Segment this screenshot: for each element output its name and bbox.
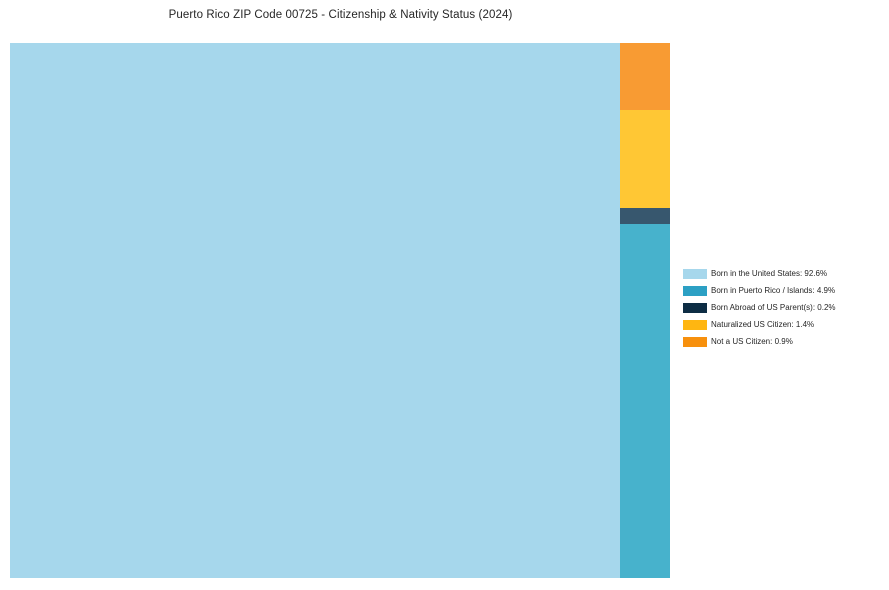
legend-label: Not a US Citizen: 0.9% xyxy=(711,334,793,350)
legend-item[interactable]: Born Abroad of US Parent(s): 0.2% xyxy=(683,300,883,317)
legend-label: Born in the United States: 92.6% xyxy=(711,266,827,282)
legend-item[interactable]: Naturalized US Citizen: 1.4% xyxy=(683,317,883,334)
treemap-plot-area xyxy=(10,43,670,578)
treemap-tile[interactable] xyxy=(620,224,670,578)
legend-swatch xyxy=(683,286,707,296)
chart-title: Puerto Rico ZIP Code 00725 - Citizenship… xyxy=(0,9,681,21)
legend-label: Born in Puerto Rico / Islands: 4.9% xyxy=(711,283,835,299)
legend-swatch xyxy=(683,337,707,347)
legend-item[interactable]: Not a US Citizen: 0.9% xyxy=(683,334,883,351)
legend-swatch xyxy=(683,269,707,279)
treemap-tile[interactable] xyxy=(620,110,670,208)
legend-item[interactable]: Born in Puerto Rico / Islands: 4.9% xyxy=(683,283,883,300)
treemap-tile[interactable] xyxy=(10,43,620,578)
legend-label: Born Abroad of US Parent(s): 0.2% xyxy=(711,300,836,316)
treemap-tile[interactable] xyxy=(620,208,670,224)
chart-canvas: Puerto Rico ZIP Code 00725 - Citizenship… xyxy=(0,0,889,590)
legend-swatch xyxy=(683,320,707,330)
chart-legend: Born in the United States: 92.6%Born in … xyxy=(683,266,883,351)
treemap-tile[interactable] xyxy=(620,43,670,110)
legend-item[interactable]: Born in the United States: 92.6% xyxy=(683,266,883,283)
legend-label: Naturalized US Citizen: 1.4% xyxy=(711,317,814,333)
legend-swatch xyxy=(683,303,707,313)
